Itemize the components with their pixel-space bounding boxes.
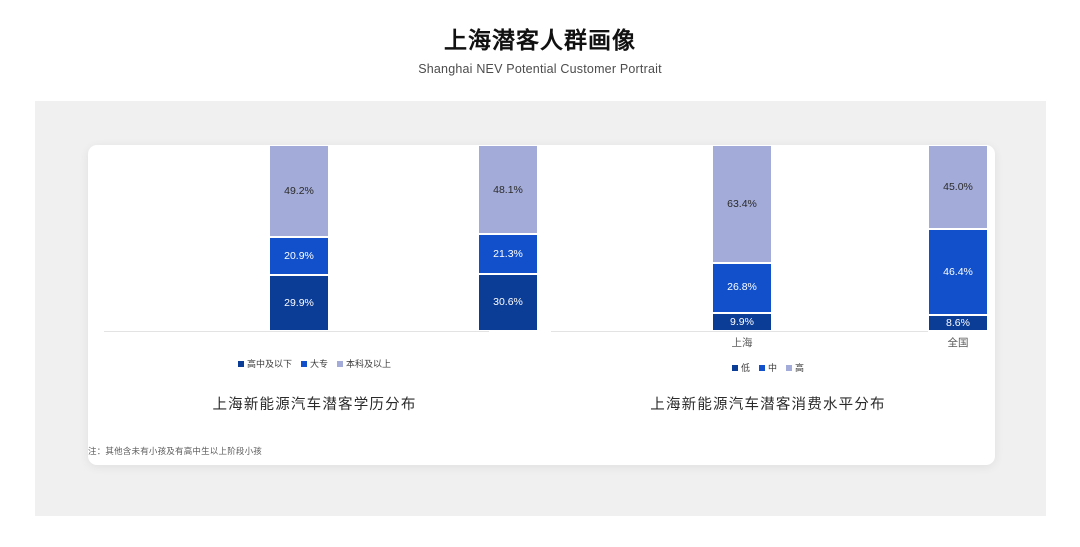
- plot-area-consumption: 63.4%26.8%9.9% 45.0%46.4%8.6%: [541, 145, 995, 331]
- legend-item[interactable]: 低: [732, 361, 750, 374]
- page-subtitle-en: Shanghai NEV Potential Customer Portrait: [0, 55, 1080, 76]
- bar-segment-value: 48.1%: [493, 185, 523, 196]
- legend-swatch-icon: [301, 361, 307, 367]
- legend-item[interactable]: 高: [786, 361, 804, 374]
- bar-segment-mid: 21.3%: [478, 234, 538, 274]
- bar-segment-value: 30.6%: [493, 297, 523, 308]
- bar-segment-value: 21.3%: [493, 249, 523, 260]
- bar-segment-low: 8.6%: [928, 315, 988, 331]
- legend-swatch-icon: [732, 365, 738, 371]
- chart-education-distribution: 49.2%20.9%29.9% 48.1%21.3%30.6% 高中及以下大专本…: [88, 145, 541, 465]
- legend-swatch-icon: [759, 365, 765, 371]
- legend-item-label: 大专: [310, 357, 328, 370]
- legend-item[interactable]: 本科及以上: [337, 357, 391, 370]
- bar-segment-value: 49.2%: [284, 186, 314, 197]
- chart-consumption-distribution: 63.4%26.8%9.9% 45.0%46.4%8.6% 上海 全国 低中高 …: [541, 145, 995, 465]
- chart-caption-consumption: 上海新能源汽车潜客消费水平分布: [541, 393, 995, 414]
- bar-segment-value: 45.0%: [943, 182, 973, 193]
- legend-item[interactable]: 中: [759, 361, 777, 374]
- plot-area-education: 49.2%20.9%29.9% 48.1%21.3%30.6%: [88, 145, 541, 331]
- bar-segment-mid: 26.8%: [712, 263, 772, 313]
- legend-item-label: 本科及以上: [346, 357, 391, 370]
- stacked-bar-column[interactable]: 48.1%21.3%30.6%: [478, 145, 538, 331]
- bar-segment-low: 30.6%: [478, 274, 538, 331]
- legend-item-label: 低: [741, 361, 750, 374]
- legend-item-label: 中: [768, 361, 777, 374]
- bar-segment-value: 20.9%: [284, 251, 314, 262]
- bar-segment-high: 48.1%: [478, 145, 538, 234]
- legend-consumption: 低中高: [541, 361, 995, 374]
- bar-segment-value: 29.9%: [284, 298, 314, 309]
- bar-segment-value: 8.6%: [946, 318, 970, 329]
- bar-segment-high: 49.2%: [269, 145, 329, 237]
- chart-caption-education: 上海新能源汽车潜客学历分布: [88, 393, 541, 414]
- x-axis-line-consumption: [551, 331, 928, 332]
- bar-segment-low: 9.9%: [712, 313, 772, 331]
- stacked-bar-column[interactable]: 63.4%26.8%9.9%: [712, 145, 772, 331]
- bar-segment-mid: 46.4%: [928, 229, 988, 315]
- legend-swatch-icon: [238, 361, 244, 367]
- x-axis-label-national: 全国: [913, 335, 1003, 350]
- page-header: 上海潜客人群画像 Shanghai NEV Potential Customer…: [0, 0, 1080, 76]
- bar-segment-low: 29.9%: [269, 275, 329, 331]
- legend-item-label: 高: [795, 361, 804, 374]
- x-axis-label-shanghai: 上海: [697, 335, 787, 350]
- bar-segment-value: 9.9%: [730, 317, 754, 328]
- legend-education: 高中及以下大专本科及以上: [88, 357, 541, 370]
- stacked-bar-column[interactable]: 45.0%46.4%8.6%: [928, 145, 988, 331]
- x-axis-line-education: [104, 331, 489, 332]
- bar-segment-value: 26.8%: [727, 282, 757, 293]
- legend-swatch-icon: [337, 361, 343, 367]
- legend-item-label: 高中及以下: [247, 357, 292, 370]
- bar-segment-high: 63.4%: [712, 145, 772, 263]
- bar-segment-value: 46.4%: [943, 267, 973, 278]
- legend-swatch-icon: [786, 365, 792, 371]
- bar-segment-mid: 20.9%: [269, 237, 329, 276]
- footnote-text: 注：其他含未有小孩及有高中生以上阶段小孩: [88, 445, 262, 457]
- page-title-cn: 上海潜客人群画像: [0, 0, 1080, 55]
- bar-segment-value: 63.4%: [727, 199, 757, 210]
- charts-card: 49.2%20.9%29.9% 48.1%21.3%30.6% 高中及以下大专本…: [88, 145, 995, 465]
- legend-item[interactable]: 大专: [301, 357, 328, 370]
- stacked-bar-column[interactable]: 49.2%20.9%29.9%: [269, 145, 329, 331]
- bar-segment-high: 45.0%: [928, 145, 988, 229]
- legend-item[interactable]: 高中及以下: [238, 357, 292, 370]
